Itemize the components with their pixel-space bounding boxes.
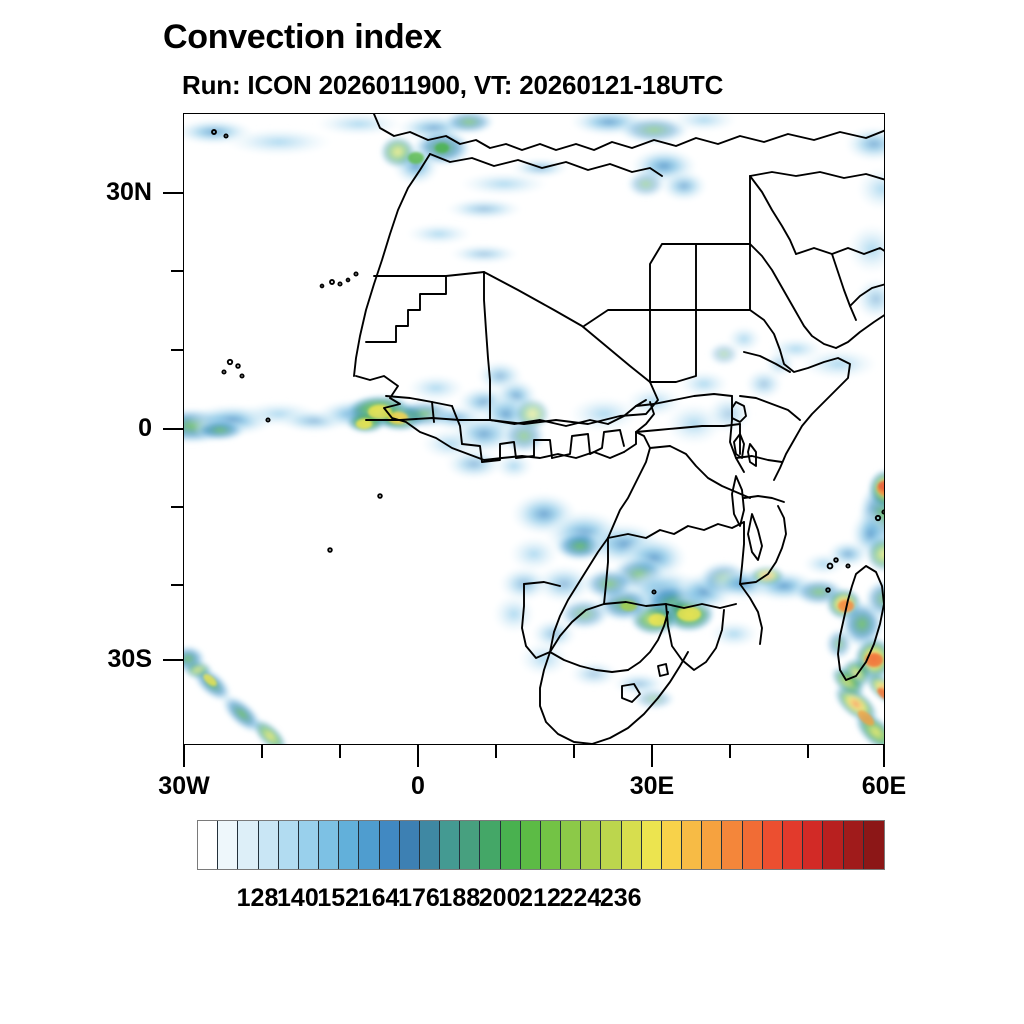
colorbar-cell [642,821,662,869]
colorbar-cell [259,821,279,869]
ylabel-30s: 30S [58,645,152,674]
colorbar-cell [480,821,500,869]
map-canvas [184,114,885,745]
ytick-minor-20n [171,270,183,272]
xtick-minor-10w [339,745,341,758]
xlabel-30w: 30W [134,772,234,801]
colorbar-cell [400,821,420,869]
colorbar-cell [460,821,480,869]
page-subtitle: Run: ICON 2026011900, VT: 20260121-18UTC [182,70,723,101]
colorbar[interactable] [197,820,885,870]
convection-field-layer [184,114,885,745]
xtick-30w [183,745,185,767]
colorbar-cell [561,821,581,869]
colorbar-cell [198,821,218,869]
colorbar-cell [722,821,742,869]
xtick-minor-20e [573,745,575,758]
colorbar-cell [743,821,763,869]
ytick-minor-20s [171,584,183,586]
colorbar-cell [541,821,561,869]
colorbar-cell [339,821,359,869]
colorbar-cell [622,821,642,869]
colorbar-cell [844,821,864,869]
ytick-30s [163,659,183,661]
colorbar-cell [501,821,521,869]
xtick-0 [417,745,419,767]
ylabel-0: 0 [58,414,152,443]
page-title: Convection index [163,18,442,57]
colorbar-cell [420,821,440,869]
colorbar-cell [359,821,379,869]
xtick-minor-10e [495,745,497,758]
map-plot-area[interactable] [183,113,885,745]
colorbar-cell [218,821,238,869]
xlabel-30e: 30E [602,772,702,801]
colorbar-cell [521,821,541,869]
xtick-minor-50e [807,745,809,758]
ytick-minor-10n [171,349,183,351]
xtick-minor-20w [261,745,263,758]
colorbar-cell [238,821,258,869]
colorbar-cell [702,821,722,869]
colorbar-cell [682,821,702,869]
colorbar-cell [319,821,339,869]
ytick-30n [163,192,183,194]
colorbar-cell [601,821,621,869]
colorbar-cell [299,821,319,869]
xlabel-0: 0 [368,772,468,801]
colorbar-cell [803,821,823,869]
colorbar-cell [763,821,783,869]
colorbar-cell [823,821,843,869]
xtick-minor-40e [729,745,731,758]
colorbar-cell [380,821,400,869]
xtick-30e [651,745,653,767]
xlabel-60e: 60E [834,772,934,801]
colorbar-cell [783,821,803,869]
colorbar-cell [279,821,299,869]
weather-map-figure: Convection index Run: ICON 2026011900, V… [0,0,1024,1024]
colorbar-tick-label: 236 [589,884,653,913]
colorbar-cell [581,821,601,869]
colorbar-cell [662,821,682,869]
colorbar-cell [440,821,460,869]
ytick-minor-10s [171,506,183,508]
colorbar-cell [864,821,884,869]
ytick-0 [163,428,183,430]
xtick-60e [883,745,885,767]
ylabel-30n: 30N [58,178,152,207]
